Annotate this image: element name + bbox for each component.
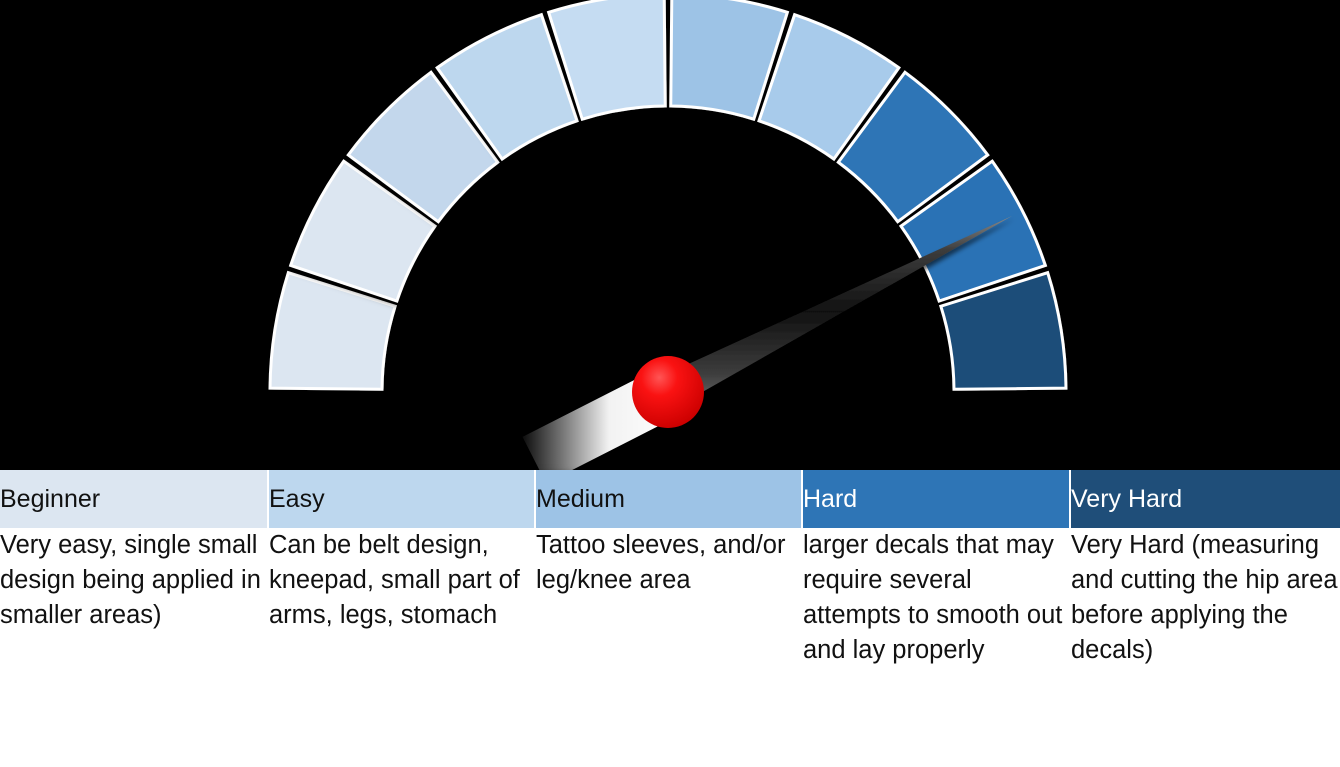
body-medium: Tattoo sleeves, and/or leg/knee area [535,528,802,767]
header-beginner: Beginner [0,470,268,528]
header-easy: Easy [268,470,535,528]
body-very-hard: Very Hard (measuring and cutting the hip… [1070,528,1340,767]
gauge-needle [523,216,1012,480]
legend-body-row: Very easy, single small design being app… [0,528,1340,767]
header-medium: Medium [535,470,802,528]
header-hard: Hard [802,470,1070,528]
body-beginner: Very easy, single small design being app… [0,528,268,767]
body-easy: Can be belt design, kneepad, small part … [268,528,535,767]
header-very-hard: Very Hard [1070,470,1340,528]
needle-hub [632,356,704,428]
difficulty-legend-table: Beginner Easy Medium Hard Very Hard Very… [0,470,1340,767]
legend-header-row: Beginner Easy Medium Hard Very Hard [0,470,1340,528]
difficulty-gauge [0,0,1340,480]
body-hard: larger decals that may require several a… [802,528,1070,767]
legend-table: Beginner Easy Medium Hard Very Hard Very… [0,470,1340,767]
slide-canvas: Beginner Easy Medium Hard Very Hard Very… [0,0,1340,767]
gauge-segment-group [270,0,1066,389]
gauge-graphic [0,0,1340,480]
